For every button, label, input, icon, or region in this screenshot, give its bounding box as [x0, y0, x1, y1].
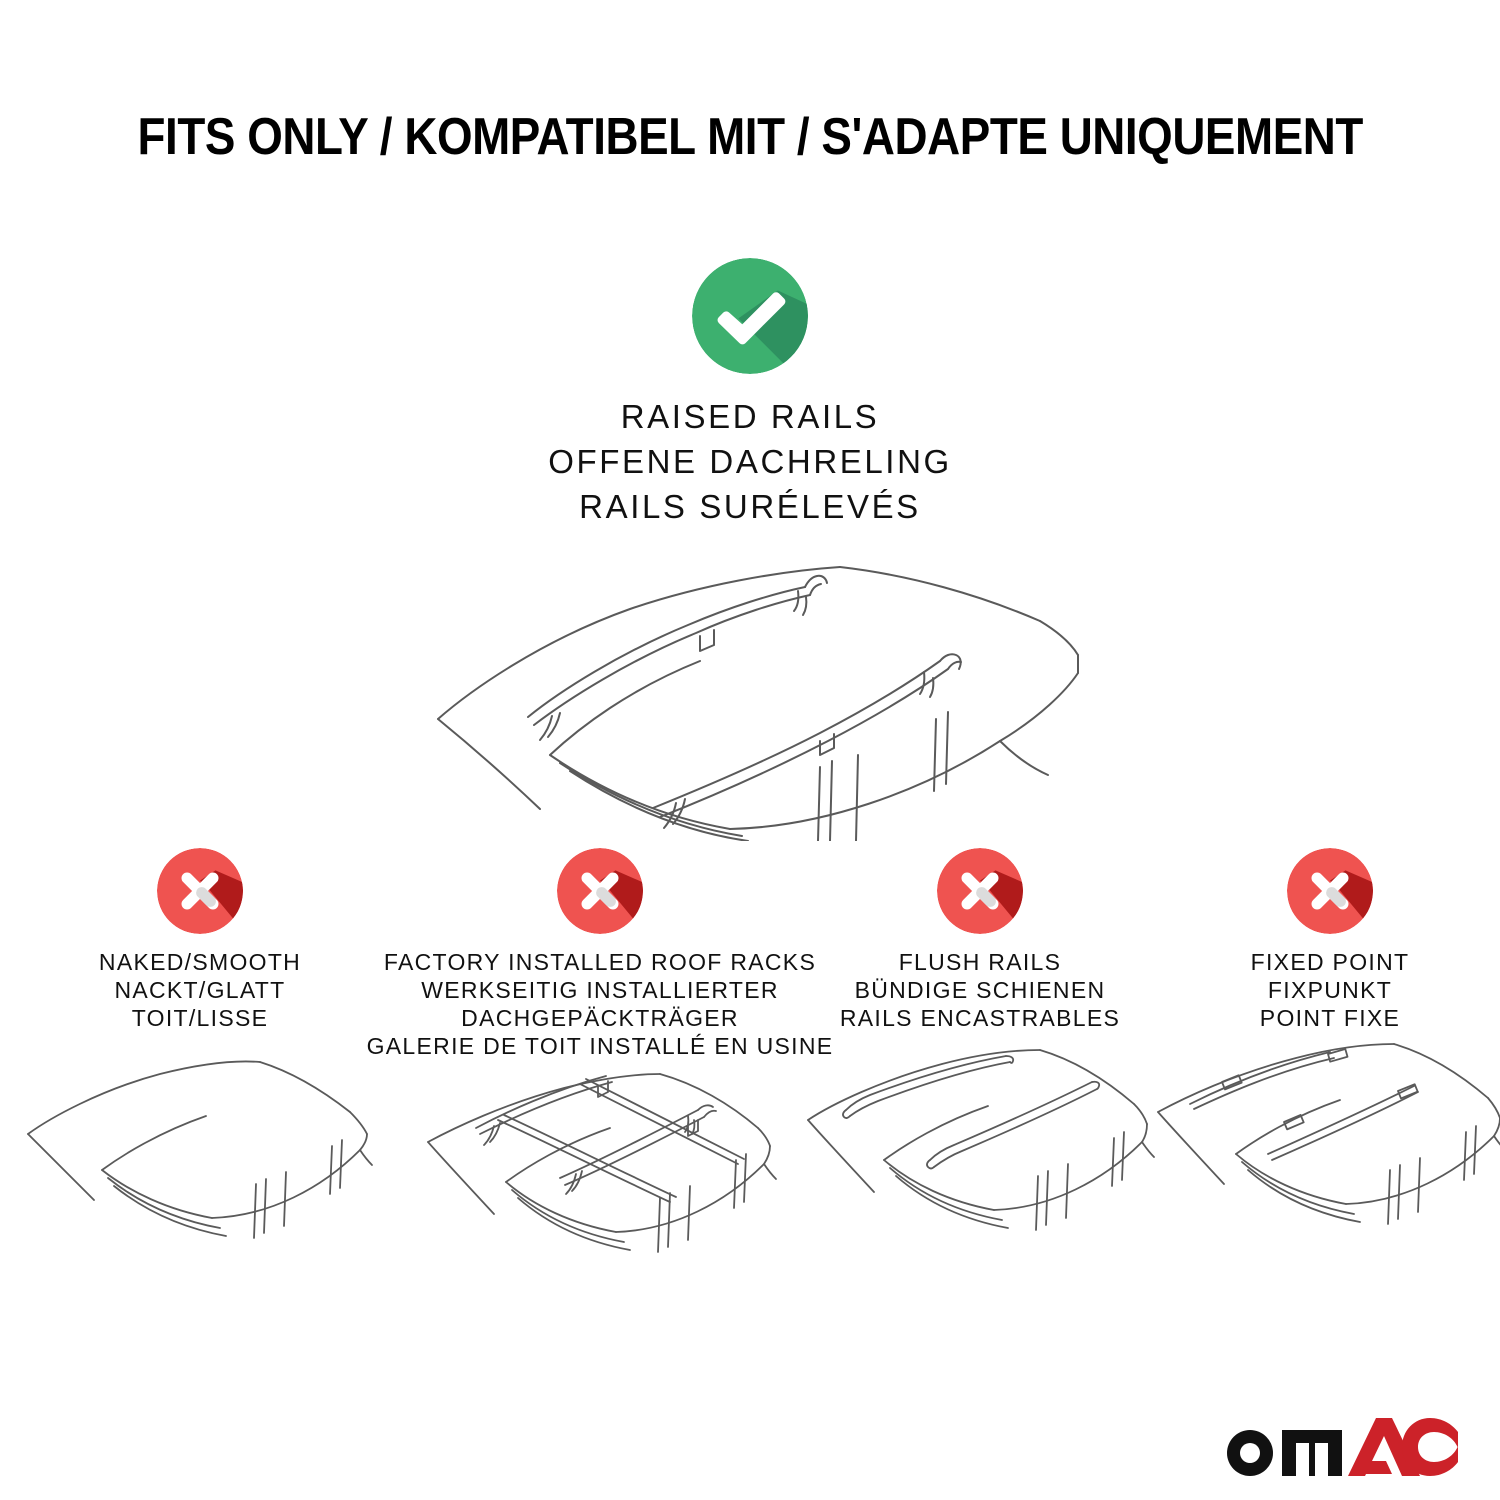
label-line-de-1: WERKSEITIG INSTALLIERTER — [367, 976, 834, 1004]
label-line-fr: POINT FIXE — [1251, 1004, 1410, 1032]
incompatible-label: FIXED POINT FIXPUNKT POINT FIXE — [1251, 948, 1410, 1032]
label-line-de: NACKT/GLATT — [99, 976, 301, 1004]
label-line-fr: TOIT/LISSE — [99, 1004, 301, 1032]
label-line-de-2: DACHGEPÄCKTRÄGER — [367, 1004, 834, 1032]
label-line-en: NAKED/SMOOTH — [99, 948, 301, 976]
incompatible-item-naked-smooth: NAKED/SMOOTH NACKT/GLATT TOIT/LISSE — [0, 848, 400, 1272]
compatible-label-line-fr: RAILS SURÉLEVÉS — [548, 484, 952, 529]
label-line-de: FIXPUNKT — [1251, 976, 1410, 1004]
check-circle-icon — [692, 258, 808, 374]
label-line-fr: GALERIE DE TOIT INSTALLÉ EN USINE — [367, 1032, 834, 1060]
car-roof-fixed-point-illustration — [1150, 1042, 1500, 1272]
label-line-en: FLUSH RAILS — [840, 948, 1120, 976]
cross-circle-icon — [1287, 848, 1373, 934]
car-roof-naked-smooth-illustration — [20, 1042, 380, 1272]
incompatible-item-fixed-point: FIXED POINT FIXPUNKT POINT FIXE — [1160, 848, 1500, 1272]
car-roof-with-raised-rails-illustration — [400, 541, 1100, 841]
cross-circle-icon — [937, 848, 1023, 934]
incompatible-item-flush-rails: FLUSH RAILS BÜNDIGE SCHIENEN RAILS ENCAS… — [800, 848, 1160, 1272]
incompatible-item-factory-roof-racks: FACTORY INSTALLED ROOF RACKS WERKSEITIG … — [400, 848, 800, 1300]
compatible-label-line-de: OFFENE DACHRELING — [548, 439, 952, 484]
compatible-label: RAISED RAILS OFFENE DACHRELING RAILS SUR… — [548, 394, 952, 529]
label-line-en: FACTORY INSTALLED ROOF RACKS — [367, 948, 834, 976]
label-line-de: BÜNDIGE SCHIENEN — [840, 976, 1120, 1004]
incompatible-section: NAKED/SMOOTH NACKT/GLATT TOIT/LISSE — [0, 848, 1500, 1300]
incompatible-label: FACTORY INSTALLED ROOF RACKS WERKSEITIG … — [367, 948, 834, 1060]
page-title-text: FITS ONLY / KOMPATIBEL MIT / S'ADAPTE UN… — [137, 108, 1362, 166]
compatible-section: RAISED RAILS OFFENE DACHRELING RAILS SUR… — [0, 258, 1500, 841]
cross-circle-icon — [557, 848, 643, 934]
cross-circle-icon — [157, 848, 243, 934]
incompatible-label: NAKED/SMOOTH NACKT/GLATT TOIT/LISSE — [99, 948, 301, 1032]
car-roof-factory-roof-racks-illustration — [420, 1070, 780, 1300]
label-line-fr: RAILS ENCASTRABLES — [840, 1004, 1120, 1032]
car-roof-flush-rails-illustration — [800, 1042, 1160, 1272]
page-title: FITS ONLY / KOMPATIBEL MIT / S'ADAPTE UN… — [0, 108, 1500, 166]
incompatible-label: FLUSH RAILS BÜNDIGE SCHIENEN RAILS ENCAS… — [840, 948, 1120, 1032]
omac-logo — [1220, 1416, 1460, 1478]
label-line-en: FIXED POINT — [1251, 948, 1410, 976]
compatible-label-line-en: RAISED RAILS — [548, 394, 952, 439]
